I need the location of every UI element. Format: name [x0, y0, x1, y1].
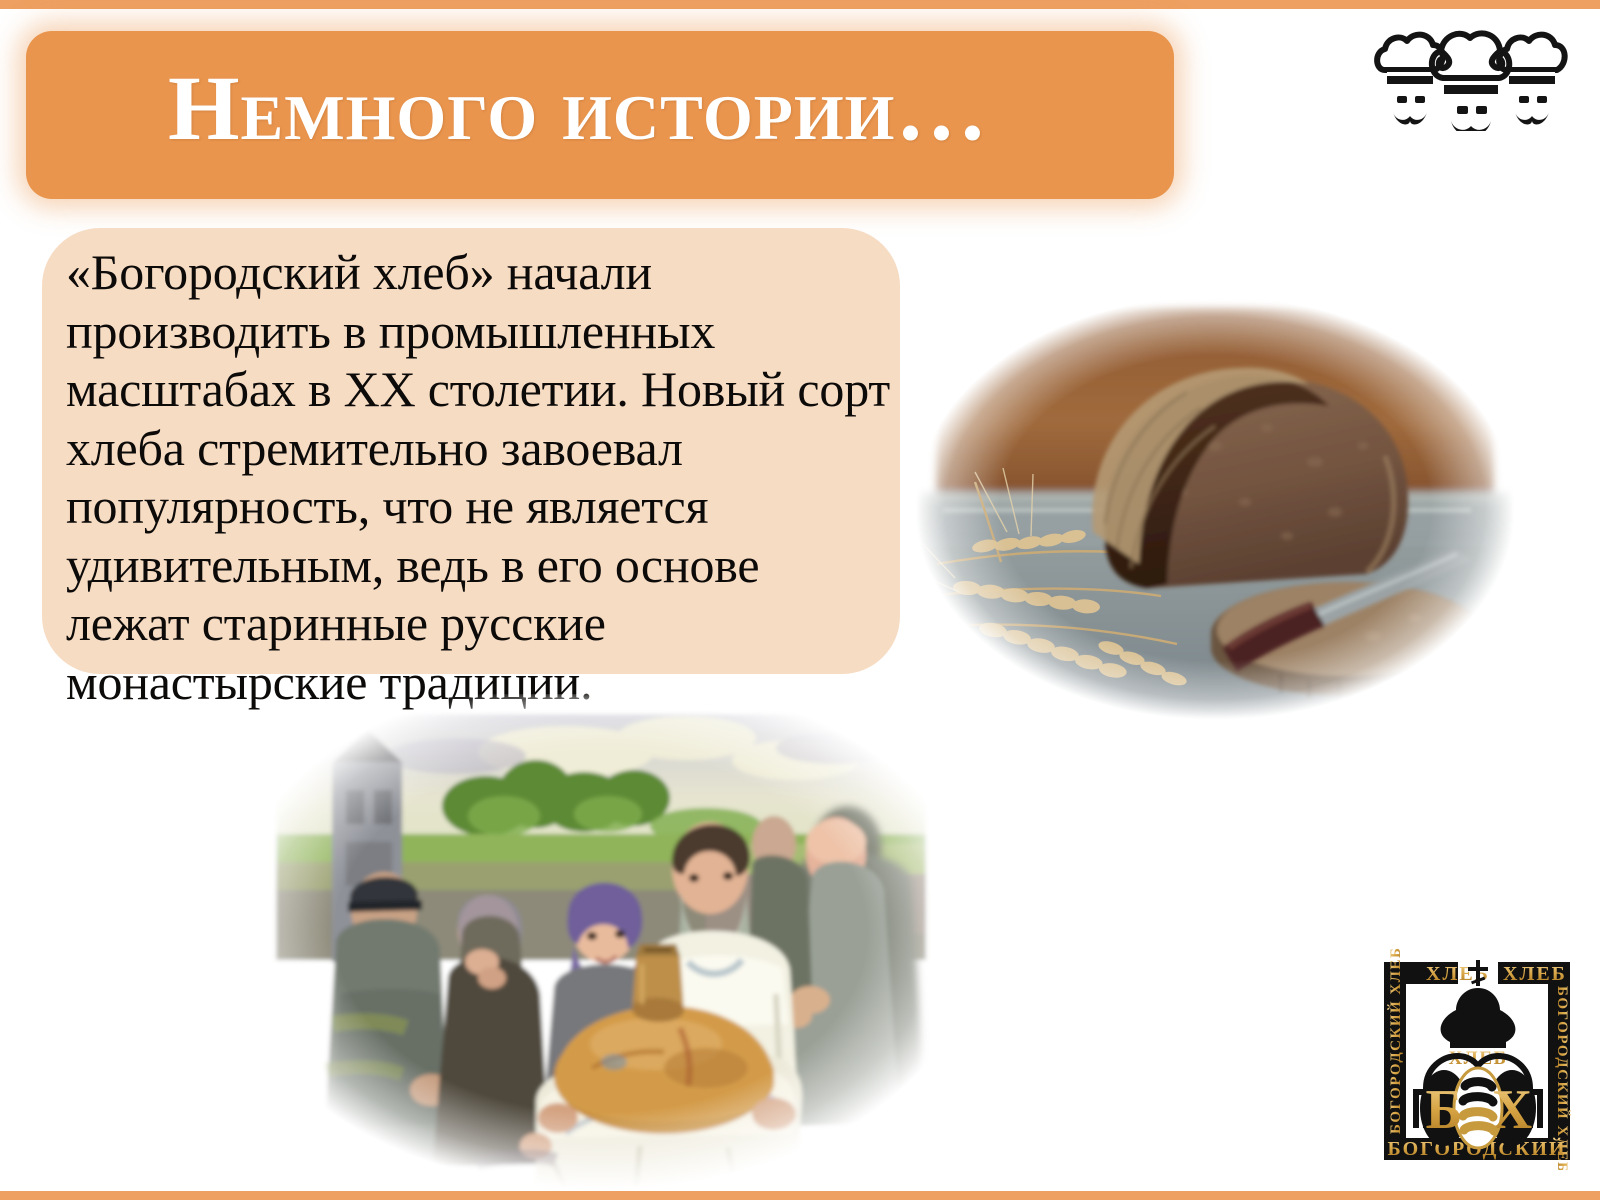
presentation-slide: Немного истории… — [0, 0, 1600, 1200]
logo-letter-b: Б — [1425, 1079, 1462, 1141]
slide-top-rule — [0, 0, 1600, 9]
logo-corner-left-text: ХЛЕБ — [1426, 963, 1490, 985]
bread-and-salt-painting — [236, 694, 966, 1190]
body-paragraph: «Богородский хлеб» начали производить в … — [66, 243, 894, 711]
page-title: Немного истории… — [168, 62, 1128, 154]
chef-hats-icon — [1373, 26, 1569, 131]
slide-bottom-rule — [0, 1191, 1600, 1200]
bogorodsky-hleb-logo: ХЛЕБ ХЛЕБ БОГОРОДСКИЙ ХЛЕБ БОГОРОДСКИЙ Х… — [1366, 938, 1588, 1170]
rye-bread-photo — [915, 296, 1515, 720]
logo-corner-right-text: ХЛЕБ — [1503, 963, 1567, 985]
logo-side-left-text: БОГОРОДСКИЙ ХЛЕБ — [1387, 947, 1404, 1134]
